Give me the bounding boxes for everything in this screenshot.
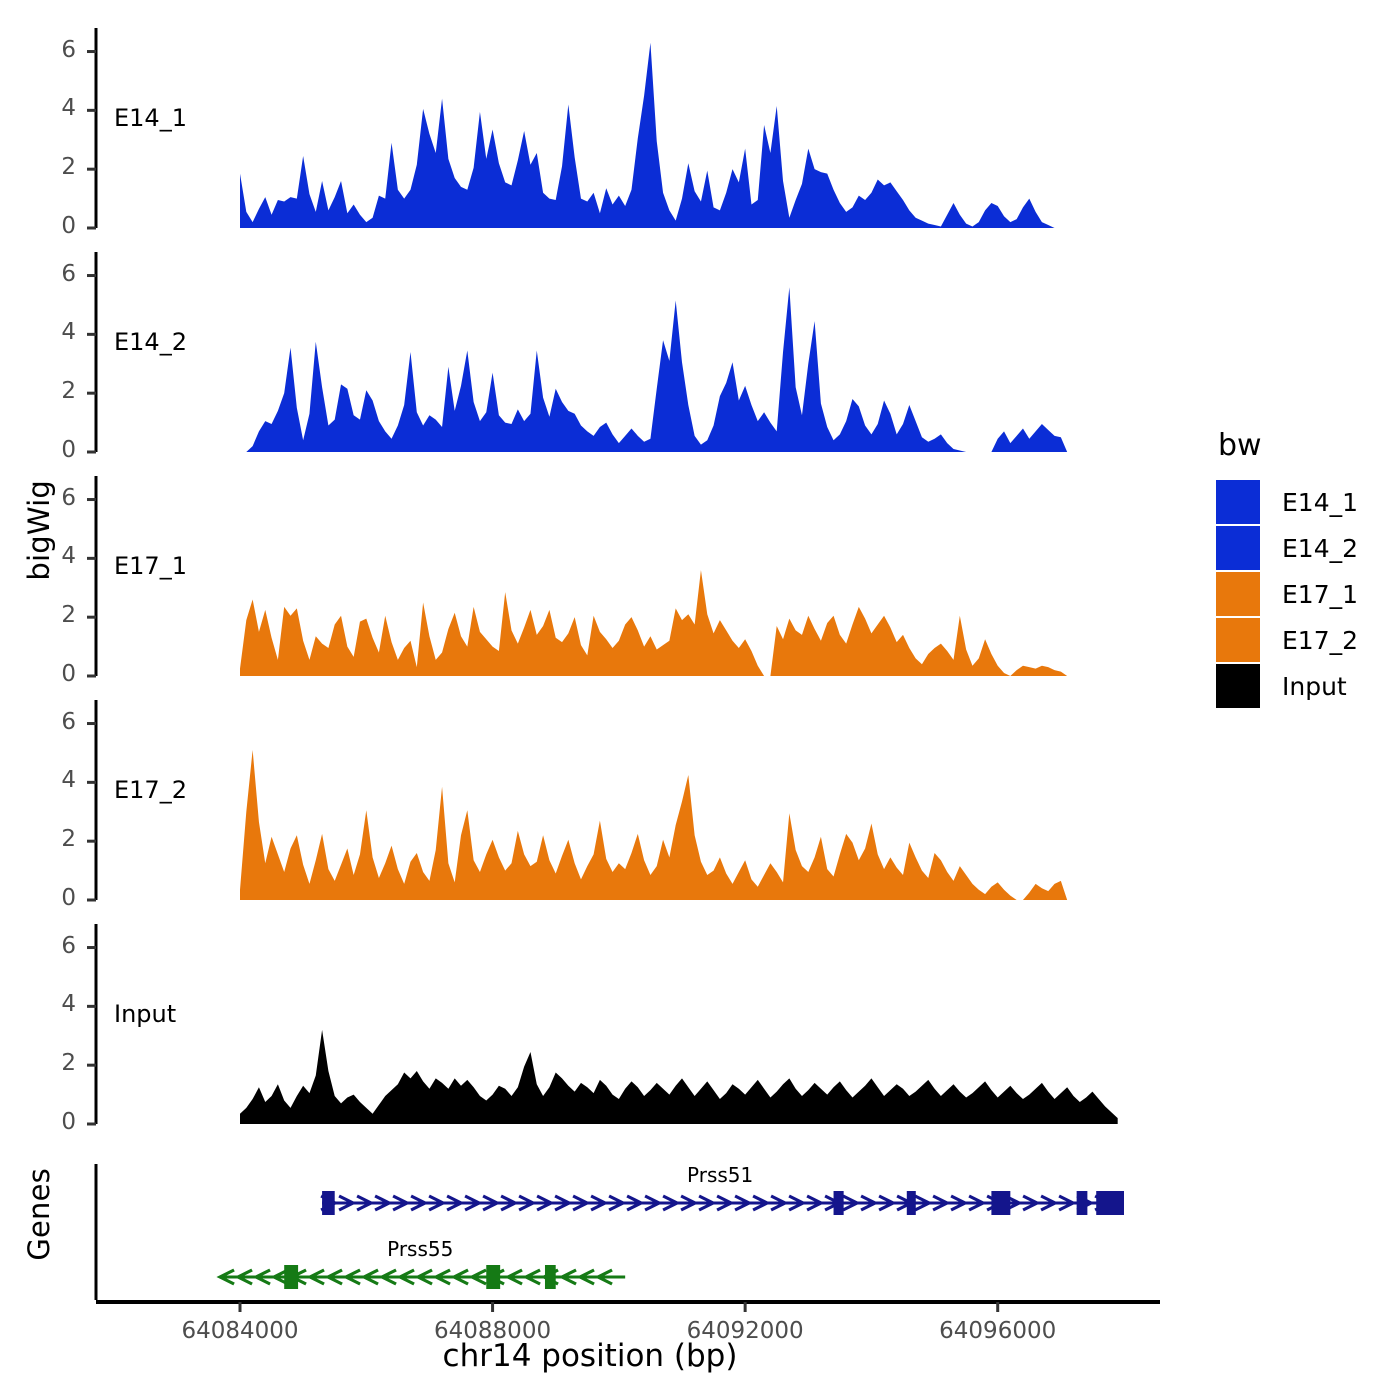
gene-track-panel xyxy=(96,1164,1124,1300)
y-tick-label: 2 xyxy=(32,154,76,180)
legend-color-swatch xyxy=(1216,526,1260,570)
gene-exon xyxy=(322,1191,335,1215)
coverage-area-e14_2 xyxy=(240,287,1118,452)
legend-item-e14_2[interactable]: E14_2 xyxy=(1216,525,1391,571)
legend-color-swatch xyxy=(1216,664,1260,708)
legend-item-e17_1[interactable]: E17_1 xyxy=(1216,571,1391,617)
coverage-panel-input xyxy=(87,924,1118,1124)
panel-label-e14_2: E14_2 xyxy=(114,328,187,356)
panel-label-e17_1: E17_1 xyxy=(114,552,187,580)
gene-exon xyxy=(991,1191,1010,1215)
y-tick-label: 6 xyxy=(32,485,76,511)
coverage-panel-e17_1 xyxy=(87,476,1118,676)
legend-item-e17_2[interactable]: E17_2 xyxy=(1216,617,1391,663)
y-tick-label: 2 xyxy=(32,378,76,404)
panel-label-e17_2: E17_2 xyxy=(114,776,187,804)
gene-exon xyxy=(1077,1191,1088,1215)
x-axis xyxy=(96,1302,1160,1312)
y-tick-label: 6 xyxy=(32,933,76,959)
coverage-area-input xyxy=(240,1030,1118,1124)
legend-label: E14_2 xyxy=(1282,534,1358,563)
y-tick-label: 2 xyxy=(32,602,76,628)
gene-exon xyxy=(284,1265,298,1289)
gene-exon xyxy=(1096,1191,1124,1215)
coverage-panel-e17_2 xyxy=(87,700,1118,900)
panel-label-input: Input xyxy=(114,1000,176,1028)
legend-label: Input xyxy=(1282,672,1347,701)
y-tick-label: 0 xyxy=(32,437,76,463)
plot-canvas xyxy=(0,0,1400,1400)
y-tick-label: 6 xyxy=(32,261,76,287)
legend-item-e14_1[interactable]: E14_1 xyxy=(1216,479,1391,525)
gene-prss55[interactable] xyxy=(220,1265,625,1289)
legend-item-input[interactable]: Input xyxy=(1216,663,1391,709)
gene-label-prss55: Prss55 xyxy=(387,1237,453,1261)
y-tick-label: 4 xyxy=(32,767,76,793)
coverage-panels xyxy=(87,28,1118,1124)
y-tick-label: 0 xyxy=(32,885,76,911)
y-tick-label: 0 xyxy=(32,213,76,239)
coverage-panel-e14_2 xyxy=(87,252,1118,452)
legend-label: E17_1 xyxy=(1282,580,1358,609)
y-tick-label: 0 xyxy=(32,1109,76,1135)
legend-color-swatch xyxy=(1216,572,1260,616)
legend-label: E14_1 xyxy=(1282,488,1358,517)
y-tick-label: 2 xyxy=(32,1050,76,1076)
y-tick-label: 4 xyxy=(32,319,76,345)
coverage-area-e14_1 xyxy=(240,43,1118,228)
legend-color-swatch xyxy=(1216,480,1260,524)
coverage-area-e17_1 xyxy=(240,570,1118,676)
gene-exon xyxy=(486,1265,500,1289)
coverage-area-e17_2 xyxy=(240,750,1118,900)
legend-label: E17_2 xyxy=(1282,626,1358,655)
legend-title: bw xyxy=(1218,428,1391,463)
legend-color-swatch xyxy=(1216,618,1260,662)
y-tick-label: 6 xyxy=(32,709,76,735)
panel-label-e14_1: E14_1 xyxy=(114,104,187,132)
y-tick-label: 6 xyxy=(32,37,76,63)
y-tick-label: 4 xyxy=(32,95,76,121)
gene-exon xyxy=(545,1265,556,1289)
legend: bw E14_1E14_2E17_1E17_2Input xyxy=(1216,428,1391,709)
gene-exon xyxy=(907,1191,916,1215)
genome-browser-figure: bigWig Genes 0246E14_10246E14_20246E17_1… xyxy=(0,0,1400,1400)
legend-items: E14_1E14_2E17_1E17_2Input xyxy=(1216,479,1391,709)
y-tick-label: 2 xyxy=(32,826,76,852)
y-tick-label: 0 xyxy=(32,661,76,687)
y-tick-label: 4 xyxy=(32,543,76,569)
coverage-panel-e14_1 xyxy=(87,28,1118,228)
gene-prss51[interactable] xyxy=(321,1191,1124,1215)
gene-exon xyxy=(834,1191,844,1215)
x-axis-title: chr14 position (bp) xyxy=(0,1338,1180,1374)
gene-label-prss51: Prss51 xyxy=(687,1163,753,1187)
y-tick-label: 4 xyxy=(32,991,76,1017)
